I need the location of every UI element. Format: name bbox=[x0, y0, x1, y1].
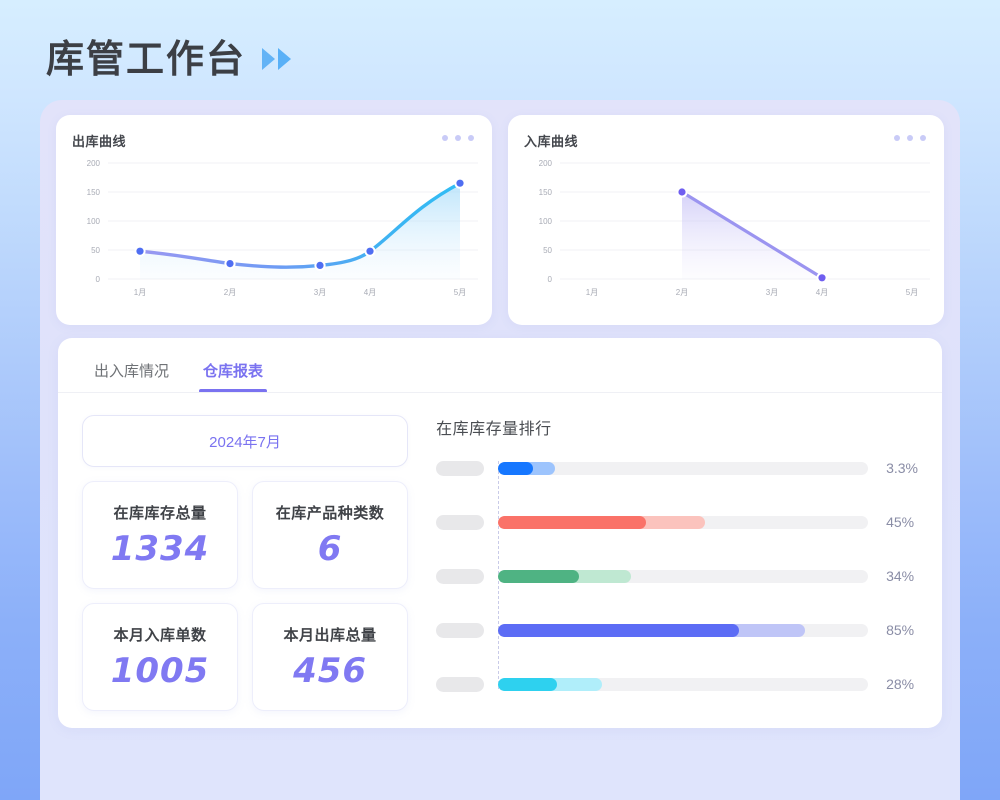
ranking-bar-fill bbox=[498, 624, 739, 637]
stat-card-monthly-inbound-orders[interactable]: 本月入库单数 1005 bbox=[82, 603, 238, 711]
ranking-bar-track bbox=[498, 570, 868, 583]
stat-label: 在库库存总量 bbox=[114, 502, 207, 523]
ranking-bar-track bbox=[498, 624, 868, 637]
main-panel: 出库曲线 bbox=[40, 100, 960, 800]
ranking-list: 3.3%45%34%85%28% bbox=[436, 457, 918, 695]
ranking-bar-track bbox=[498, 678, 868, 691]
outbound-chart-card: 出库曲线 bbox=[56, 115, 492, 325]
inbound-chart-title: 入库曲线 bbox=[524, 131, 928, 150]
dot bbox=[468, 135, 474, 141]
ranking-bar-fill bbox=[498, 678, 557, 691]
svg-text:3月: 3月 bbox=[314, 288, 326, 297]
ranking-percent-label: 85% bbox=[886, 622, 914, 638]
stat-card-total-stock[interactable]: 在库库存总量 1334 bbox=[82, 481, 238, 589]
ranking-label-placeholder bbox=[436, 515, 484, 530]
outbound-chart-plot: 200 150 100 50 0 bbox=[70, 155, 480, 315]
ranking-bar-fill bbox=[498, 516, 646, 529]
tab-warehouse-report[interactable]: 仓库报表 bbox=[203, 360, 263, 393]
charts-row: 出库曲线 bbox=[56, 115, 944, 325]
svg-text:1月: 1月 bbox=[134, 288, 146, 297]
ranking-bar-track bbox=[498, 462, 868, 475]
ranking-row[interactable]: 45% bbox=[436, 511, 918, 533]
ranking-percent-label: 45% bbox=[886, 514, 914, 530]
stat-card-product-types[interactable]: 在库产品种类数 6 bbox=[252, 481, 408, 589]
report-tabs: 出入库情况 仓库报表 bbox=[58, 338, 942, 393]
svg-text:5月: 5月 bbox=[906, 288, 918, 297]
svg-text:1月: 1月 bbox=[586, 288, 598, 297]
ranking-label-placeholder bbox=[436, 677, 484, 692]
more-dots-icon[interactable] bbox=[894, 135, 926, 141]
double-right-arrow-icon[interactable] bbox=[262, 48, 291, 70]
triangle-right-icon bbox=[262, 48, 275, 70]
inbound-chart-plot: 200 150 100 50 0 1月 2月 3月 4月 5月 bbox=[522, 155, 932, 315]
stat-grid: 在库库存总量 1334 在库产品种类数 6 本月入库单数 1005 本月出库总量… bbox=[82, 481, 408, 711]
stat-value: 1005 bbox=[111, 651, 210, 691]
triangle-right-icon bbox=[278, 48, 291, 70]
svg-text:200: 200 bbox=[87, 159, 101, 168]
ranking-row[interactable]: 34% bbox=[436, 565, 918, 587]
ranking-percent-label: 3.3% bbox=[886, 460, 918, 476]
inbound-chart-card: 入库曲线 bbox=[508, 115, 944, 325]
svg-text:100: 100 bbox=[87, 217, 101, 226]
outbound-chart-title: 出库曲线 bbox=[72, 131, 476, 150]
month-selector-value: 2024年7月 bbox=[209, 431, 281, 452]
stat-value: 1334 bbox=[111, 529, 210, 569]
ranking-bar-track bbox=[498, 516, 868, 529]
page-header: 库管工作台 bbox=[46, 28, 291, 83]
ranking-label-placeholder bbox=[436, 461, 484, 476]
dot bbox=[442, 135, 448, 141]
month-selector[interactable]: 2024年7月 bbox=[82, 415, 408, 467]
report-body: 2024年7月 在库库存总量 1334 在库产品种类数 6 本月入库单数 100… bbox=[58, 393, 942, 711]
ranking-row[interactable]: 85% bbox=[436, 619, 918, 641]
stat-label: 本月出库总量 bbox=[284, 624, 377, 645]
svg-text:2月: 2月 bbox=[224, 288, 236, 297]
svg-text:4月: 4月 bbox=[364, 288, 376, 297]
ranking-bar-fill bbox=[498, 570, 579, 583]
page-title: 库管工作台 bbox=[46, 28, 246, 83]
ranking-bar-fill bbox=[498, 462, 533, 475]
svg-text:150: 150 bbox=[539, 188, 553, 197]
stat-label: 在库产品种类数 bbox=[276, 502, 385, 523]
tabs-divider bbox=[58, 392, 942, 393]
svg-text:200: 200 bbox=[539, 159, 553, 168]
svg-text:3月: 3月 bbox=[766, 288, 778, 297]
svg-text:0: 0 bbox=[548, 275, 553, 284]
svg-text:150: 150 bbox=[87, 188, 101, 197]
svg-text:50: 50 bbox=[91, 246, 100, 255]
svg-text:0: 0 bbox=[96, 275, 101, 284]
stat-label: 本月入库单数 bbox=[114, 624, 207, 645]
dot bbox=[894, 135, 900, 141]
more-dots-icon[interactable] bbox=[442, 135, 474, 141]
stat-value: 6 bbox=[318, 529, 343, 569]
svg-text:100: 100 bbox=[539, 217, 553, 226]
stats-column: 2024年7月 在库库存总量 1334 在库产品种类数 6 本月入库单数 100… bbox=[82, 415, 408, 711]
svg-text:4月: 4月 bbox=[816, 288, 828, 297]
svg-text:50: 50 bbox=[543, 246, 552, 255]
dot bbox=[920, 135, 926, 141]
ranking-percent-label: 28% bbox=[886, 676, 914, 692]
ranking-column: 在库库存量排行 3.3%45%34%85%28% bbox=[428, 415, 918, 711]
svg-text:2月: 2月 bbox=[676, 288, 688, 297]
stat-value: 456 bbox=[293, 651, 367, 691]
tab-inbound-outbound[interactable]: 出入库情况 bbox=[94, 360, 169, 393]
ranking-percent-label: 34% bbox=[886, 568, 914, 584]
ranking-title: 在库库存量排行 bbox=[436, 415, 918, 439]
ranking-label-placeholder bbox=[436, 569, 484, 584]
ranking-row[interactable]: 3.3% bbox=[436, 457, 918, 479]
stat-card-monthly-outbound-total[interactable]: 本月出库总量 456 bbox=[252, 603, 408, 711]
ranking-label-placeholder bbox=[436, 623, 484, 638]
dot bbox=[455, 135, 461, 141]
report-card: 出入库情况 仓库报表 2024年7月 在库库存总量 1334 在库产品种类数 6 bbox=[58, 338, 942, 728]
ranking-row[interactable]: 28% bbox=[436, 673, 918, 695]
dot bbox=[907, 135, 913, 141]
svg-text:5月: 5月 bbox=[454, 288, 466, 297]
